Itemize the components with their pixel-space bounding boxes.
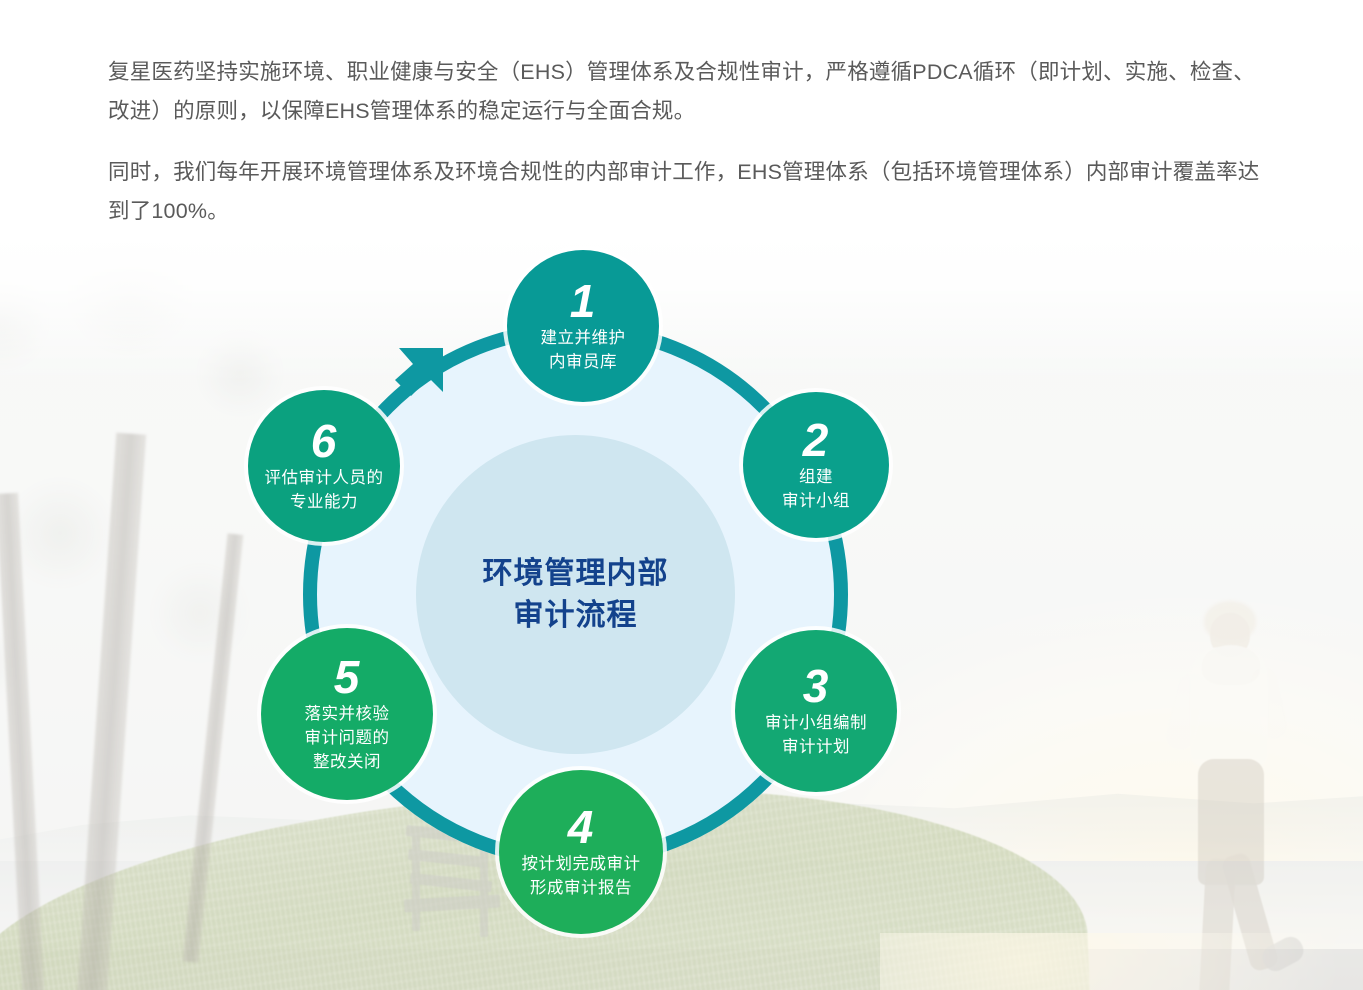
step-bubble-2[interactable]: 2 组建 审计小组 — [743, 392, 889, 538]
step-6-line-2: 专业能力 — [265, 490, 384, 514]
diagram-center-title: 环境管理内部 审计流程 — [416, 435, 735, 754]
step-5-line-2: 审计问题的 — [305, 726, 390, 750]
step-label-1: 建立并维护 内审员库 — [541, 326, 626, 374]
step-bubble-4[interactable]: 4 按计划完成审计 形成审计报告 — [499, 770, 663, 934]
step-bubble-5[interactable]: 5 落实并核验 审计问题的 整改关闭 — [261, 628, 433, 800]
step-3-line-1: 审计小组编制 — [765, 711, 867, 735]
body-copy: 复星医药坚持实施环境、职业健康与安全（EHS）管理体系及合规性审计，严格遵循PD… — [108, 53, 1276, 231]
step-label-4: 按计划完成审计 形成审计报告 — [522, 852, 641, 900]
step-2-line-1: 组建 — [782, 465, 850, 489]
step-5-line-1: 落实并核验 — [305, 702, 390, 726]
step-number-1: 1 — [570, 278, 597, 324]
step-4-line-1: 按计划完成审计 — [522, 852, 641, 876]
step-5-line-3: 整改关闭 — [305, 750, 390, 774]
step-1-line-1: 建立并维护 — [541, 326, 626, 350]
audit-cycle-diagram: 环境管理内部 审计流程 1 建立并维护 内审员库 2 组建 审计小组 3 审计小… — [303, 322, 848, 867]
paragraph-1: 复星医药坚持实施环境、职业健康与安全（EHS）管理体系及合规性审计，严格遵循PD… — [108, 53, 1276, 131]
center-title-line-2: 审计流程 — [514, 595, 638, 637]
step-label-6: 评估审计人员的 专业能力 — [265, 466, 384, 514]
step-number-3: 3 — [803, 663, 830, 709]
step-label-2: 组建 审计小组 — [782, 465, 850, 513]
step-bubble-1[interactable]: 1 建立并维护 内审员库 — [507, 250, 659, 402]
paragraph-2: 同时，我们每年开展环境管理体系及环境合规性的内部审计工作，EHS管理体系（包括环… — [108, 153, 1276, 231]
step-bubble-6[interactable]: 6 评估审计人员的 专业能力 — [248, 390, 400, 542]
page-root: 复星医药坚持实施环境、职业健康与安全（EHS）管理体系及合规性审计，严格遵循PD… — [0, 0, 1363, 990]
step-label-5: 落实并核验 审计问题的 整改关闭 — [305, 702, 390, 774]
step-bubble-3[interactable]: 3 审计小组编制 审计计划 — [735, 630, 897, 792]
step-4-line-2: 形成审计报告 — [522, 876, 641, 900]
step-number-4: 4 — [568, 804, 595, 850]
center-title-line-1: 环境管理内部 — [483, 553, 669, 595]
step-number-6: 6 — [311, 418, 338, 464]
step-1-line-2: 内审员库 — [541, 350, 626, 374]
step-number-5: 5 — [334, 654, 361, 700]
step-2-line-2: 审计小组 — [782, 489, 850, 513]
cycle-arrow-icon — [379, 342, 449, 412]
step-label-3: 审计小组编制 审计计划 — [765, 711, 867, 759]
step-3-line-2: 审计计划 — [765, 735, 867, 759]
step-number-2: 2 — [803, 417, 830, 463]
step-6-line-1: 评估审计人员的 — [265, 466, 384, 490]
